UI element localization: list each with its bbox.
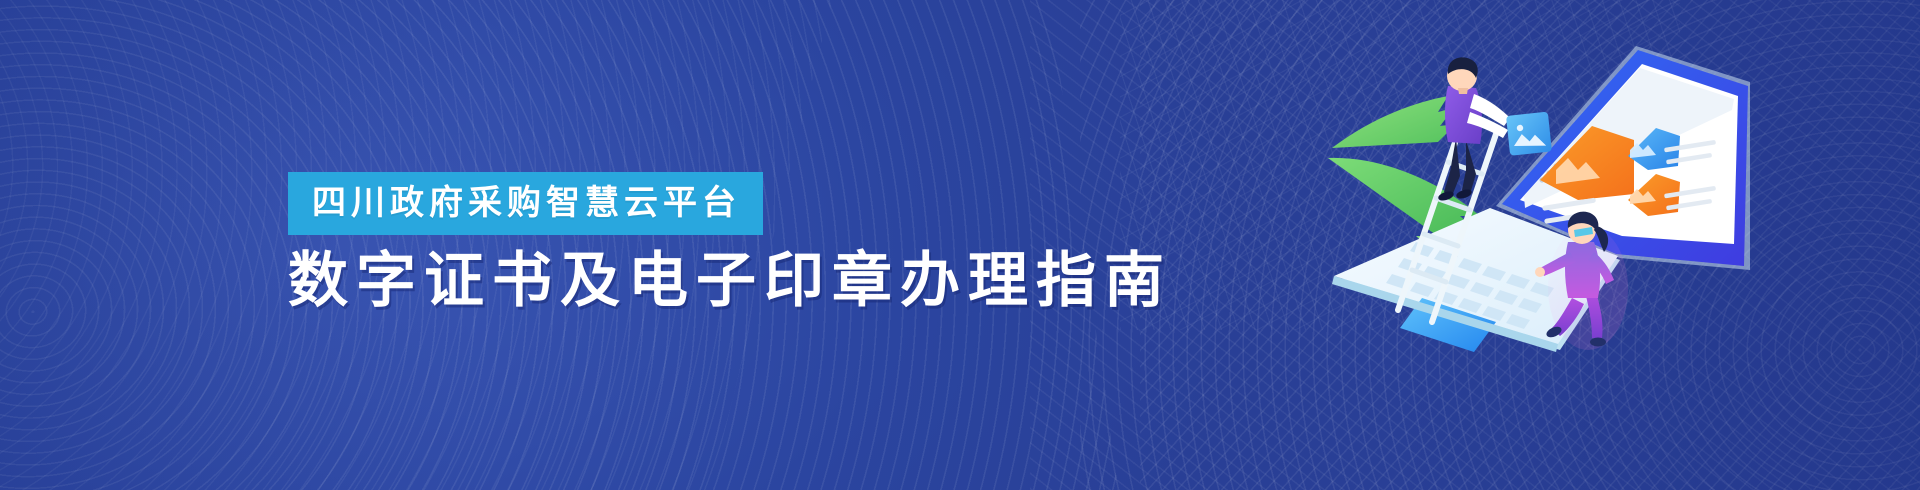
banner-title: 数字证书及电子印章办理指南 — [288, 249, 1168, 314]
platform-name-badge: 四川政府采购智慧云平台 — [288, 172, 763, 235]
laptop-ladder-illustration — [1320, 30, 1750, 370]
walking-person-icon — [1320, 30, 1750, 370]
promo-banner: 四川政府采购智慧云平台 数字证书及电子印章办理指南 — [0, 0, 1920, 490]
banner-text-block: 四川政府采购智慧云平台 数字证书及电子印章办理指南 — [288, 172, 1168, 314]
